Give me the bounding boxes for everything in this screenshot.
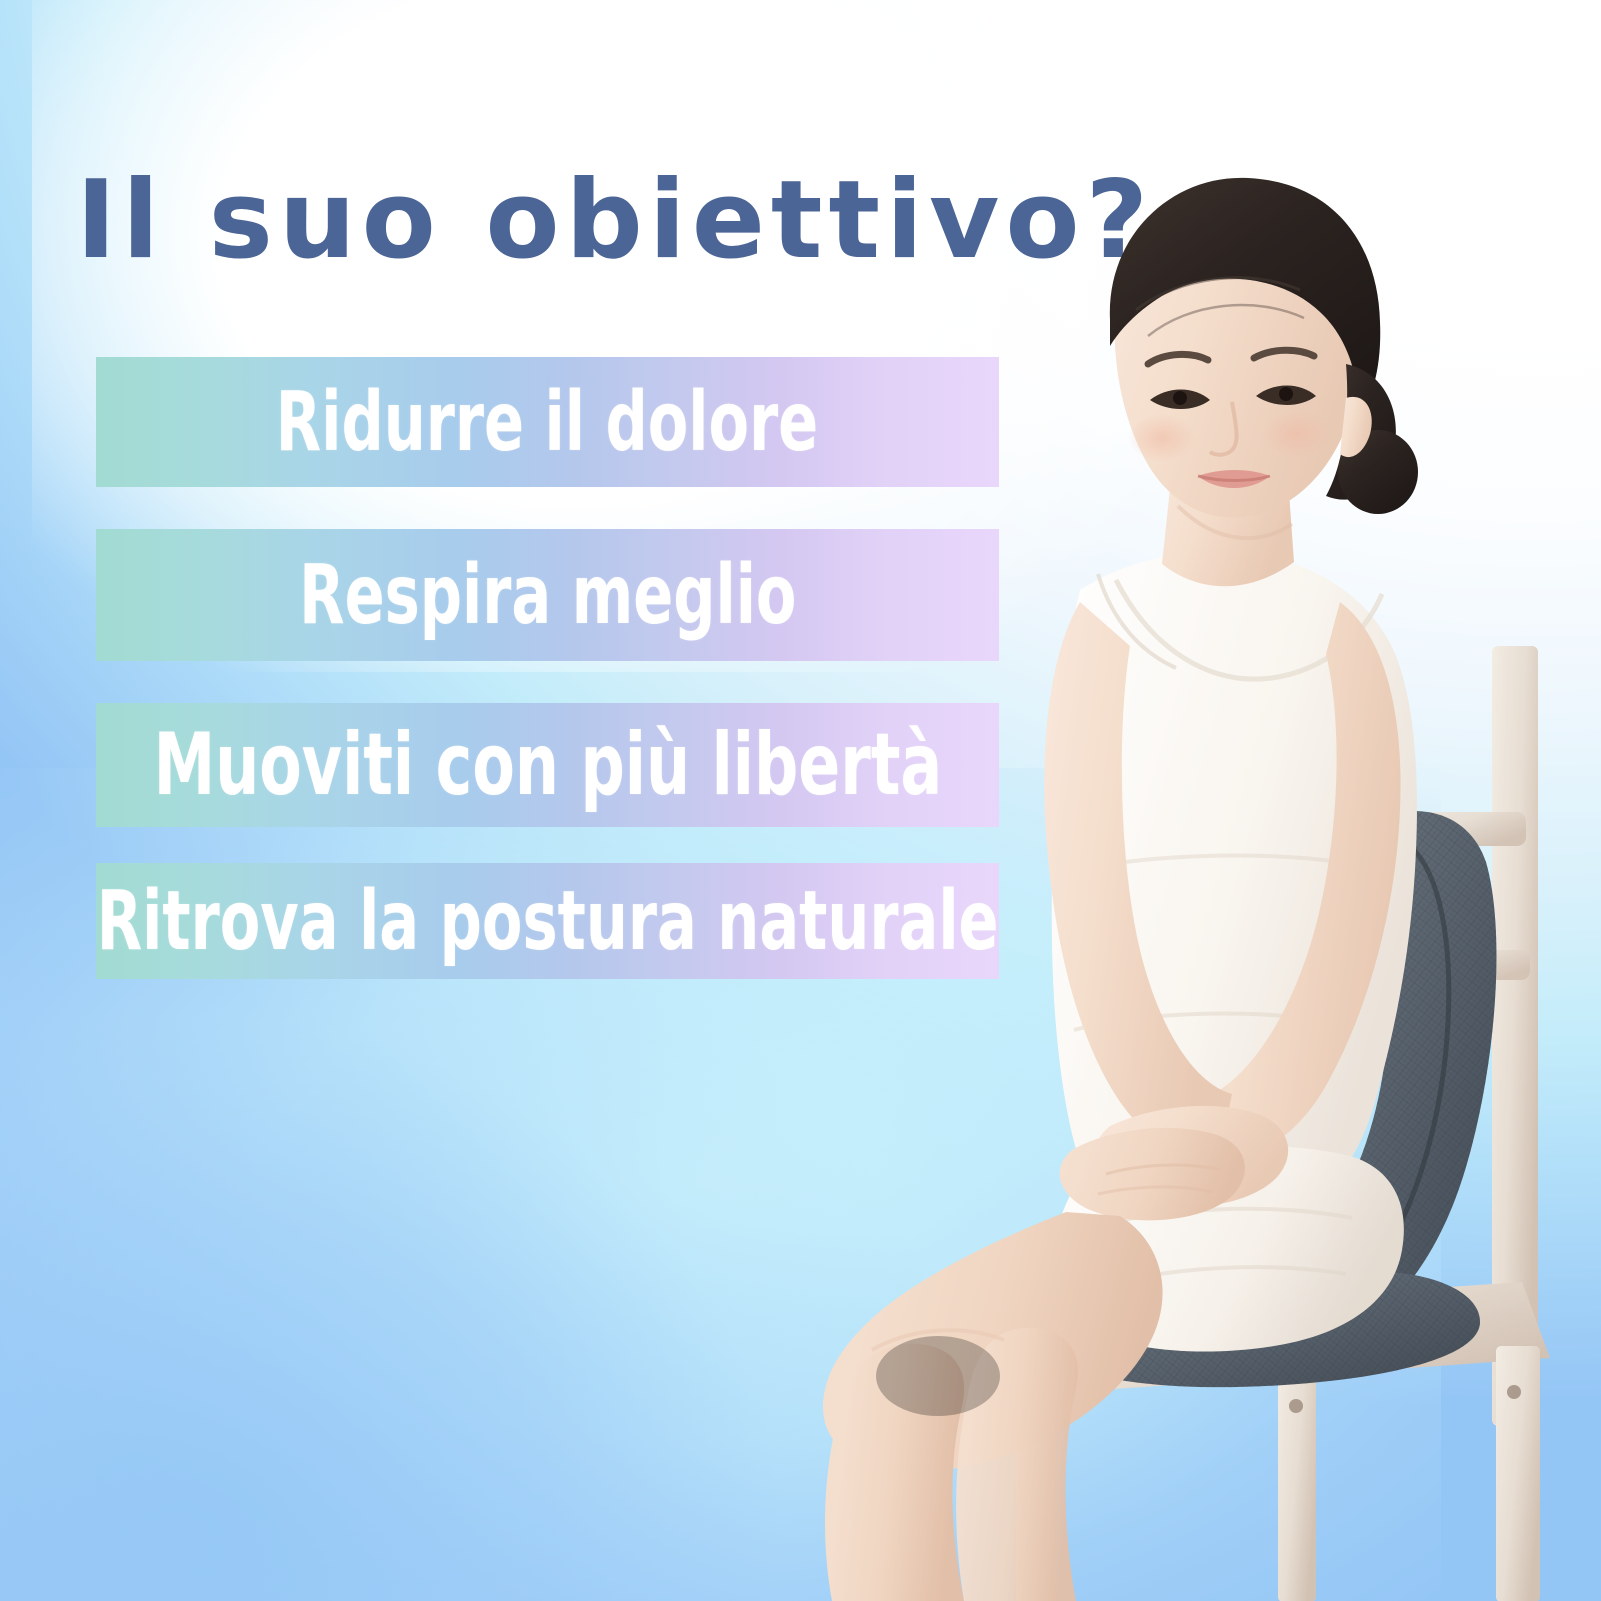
poster-canvas: Il suo obiettivo? Ridurre il dolore Resp…	[0, 0, 1601, 1601]
benefit-bar-label: Ridurre il dolore	[276, 375, 818, 470]
model-photo	[780, 150, 1601, 1601]
model-legs	[823, 1212, 1163, 1601]
model-head	[1110, 178, 1418, 518]
benefit-bar-label: Respira meglio	[299, 548, 796, 643]
